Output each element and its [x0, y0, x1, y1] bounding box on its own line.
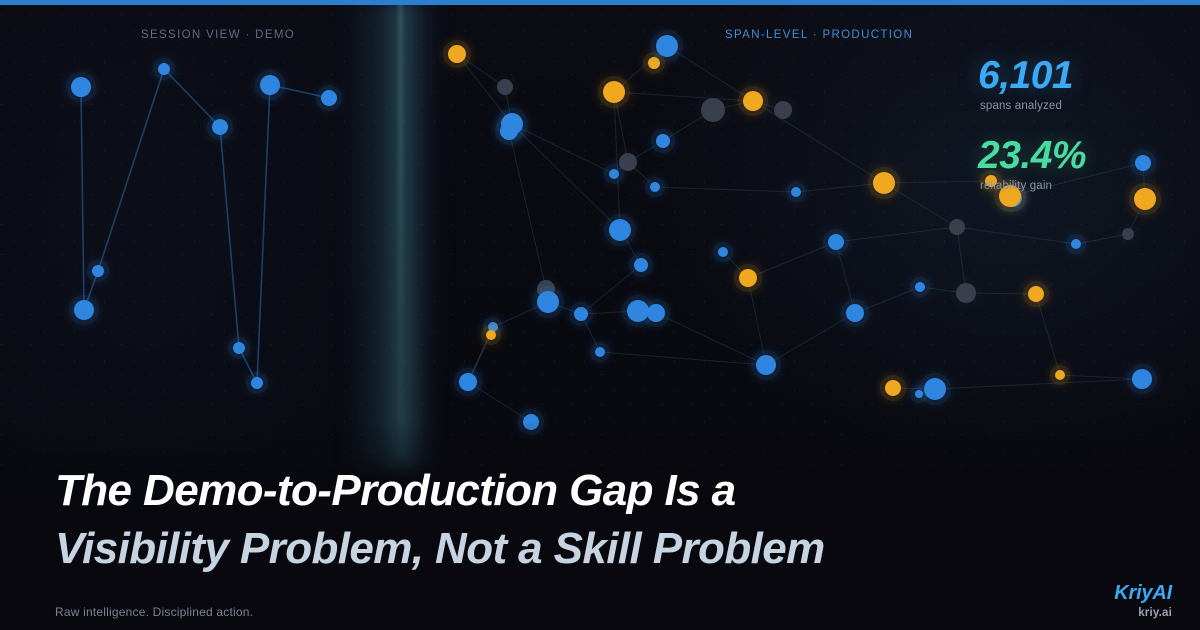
network-node: [251, 377, 263, 389]
network-node: [212, 119, 228, 135]
network-node: [956, 283, 976, 303]
network-node: [1028, 286, 1044, 302]
network-node: [92, 265, 104, 277]
network-edge: [748, 242, 836, 278]
network-node: [595, 347, 605, 357]
brand-name: KriyAI: [1114, 583, 1172, 603]
network-node: [486, 330, 496, 340]
eyebrow-span-production: SPAN-LEVEL · PRODUCTION: [725, 29, 913, 41]
network-node: [574, 307, 588, 321]
headline-block: The Demo-to-Production Gap Is a Visibili…: [55, 462, 1115, 578]
network-node: [537, 291, 559, 313]
stat-spans-label: spans analyzed: [980, 100, 1178, 112]
network-node: [497, 79, 513, 95]
headline-line-1: The Demo-to-Production Gap Is a: [55, 462, 1115, 520]
network-node: [500, 122, 518, 140]
network-node: [873, 172, 895, 194]
brand-lockup: KriyAI kriy.ai: [1114, 583, 1172, 620]
network-edge: [600, 352, 766, 365]
network-edge: [766, 313, 855, 365]
network-node: [924, 378, 946, 400]
network-node: [71, 77, 91, 97]
network-node: [656, 134, 670, 148]
network-node: [448, 45, 466, 63]
network-edge: [836, 227, 957, 242]
network-node: [233, 342, 245, 354]
network-node: [656, 35, 678, 57]
network-node: [1132, 369, 1152, 389]
network-nodes-left: [66, 58, 342, 394]
poster-canvas: SESSION VIEW · DEMO SPAN-LEVEL · PRODUCT…: [0, 0, 1200, 630]
network-node: [321, 90, 337, 106]
network-edge: [614, 92, 753, 101]
stat-reliability-value: 23.4%: [978, 136, 1178, 175]
network-node: [158, 63, 170, 75]
network-edge: [220, 127, 239, 348]
network-node: [1055, 370, 1065, 380]
network-edge: [935, 379, 1142, 389]
network-node: [791, 187, 801, 197]
network-node: [650, 182, 660, 192]
eyebrow-session-demo: SESSION VIEW · DEMO: [141, 29, 295, 41]
top-accent-bar: [0, 0, 1200, 5]
network-node: [1122, 228, 1134, 240]
network-node: [949, 219, 965, 235]
stat-spans-value: 6,101: [978, 56, 1178, 95]
brand-domain: kriy.ai: [1114, 608, 1172, 620]
network-edge: [509, 131, 546, 289]
network-node: [915, 282, 925, 292]
headline-line-2: Visibility Problem, Not a Skill Problem: [55, 520, 1115, 578]
stats-panel: 6,101 spans analyzed 23.4% reliability g…: [978, 56, 1178, 192]
stat-reliability-gain: 23.4% reliability gain: [978, 136, 1178, 192]
network-node: [701, 98, 725, 122]
network-node: [718, 247, 728, 257]
network-node: [74, 300, 94, 320]
network-edge: [884, 181, 991, 183]
network-node: [459, 373, 477, 391]
network-node: [774, 101, 792, 119]
network-node: [743, 91, 763, 111]
network-edge: [957, 227, 1076, 244]
network-node: [828, 234, 844, 250]
network-node: [603, 81, 625, 103]
network-edge: [512, 124, 614, 174]
network-node: [846, 304, 864, 322]
network-node: [1071, 239, 1081, 249]
network-node: [634, 258, 648, 272]
network-edge: [81, 87, 84, 310]
network-node: [885, 380, 901, 396]
network-edge: [655, 187, 796, 192]
network-node: [739, 269, 757, 287]
network-node: [647, 304, 665, 322]
stat-reliability-label: reliability gain: [980, 180, 1178, 192]
network-node: [609, 169, 619, 179]
stat-spans-analyzed: 6,101 spans analyzed: [978, 56, 1178, 112]
network-node: [260, 75, 280, 95]
network-node: [609, 219, 631, 241]
tagline: Raw intelligence. Disciplined action.: [55, 605, 253, 619]
network-edges-left: [81, 69, 329, 383]
network-edge: [98, 69, 164, 271]
network-node: [756, 355, 776, 375]
network-edge: [257, 85, 270, 383]
